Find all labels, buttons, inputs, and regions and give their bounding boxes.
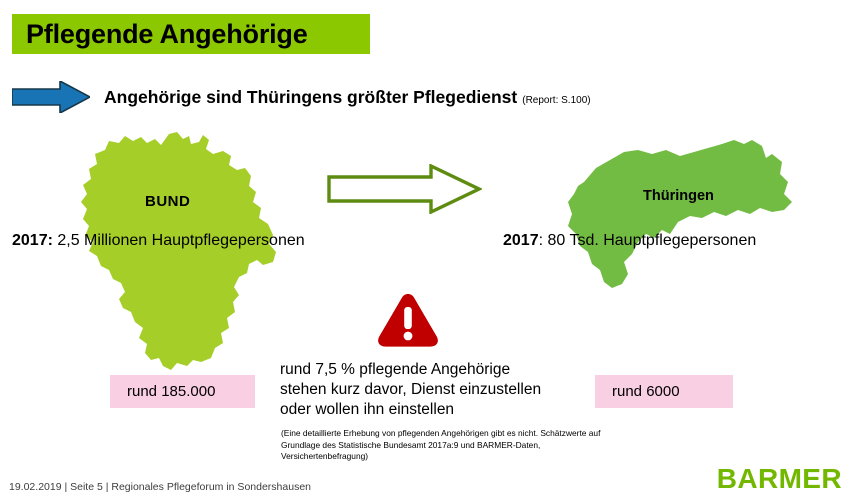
value-box-thueringen-label: rund 6000 [612, 383, 680, 400]
center-text-line-3: oder wollen ihn einstellen [280, 400, 570, 420]
center-description-text: rund 7,5 % pflegende Angehörige stehen k… [280, 360, 570, 420]
subtitle-reference: (Report: S.100) [522, 95, 590, 106]
value-box-thueringen: rund 6000 [595, 375, 733, 408]
stat-value-thueringen: : 80 Tsd. Hauptpflegepersonen [539, 232, 757, 249]
map-label-bund: BUND [145, 193, 190, 210]
germany-map-icon [73, 132, 283, 374]
blue-pointer-arrow-icon [12, 81, 90, 113]
thuringia-map-icon [566, 138, 811, 290]
center-text-line-1: rund 7,5 % pflegende Angehörige [280, 360, 570, 380]
stat-year-bund: 2017: [12, 232, 53, 249]
center-text-line-2: stehen kurz davor, Dienst einzustellen [280, 380, 570, 400]
green-transition-arrow-icon [327, 164, 482, 214]
footnote-line-1: (Eine detaillierte Erhebung von pflegend… [281, 428, 621, 440]
subtitle-text: Angehörige sind Thüringens größter Pfleg… [104, 87, 517, 108]
page-title: Pflegende Angehörige [12, 19, 308, 50]
value-box-bund-label: rund 185.000 [127, 383, 215, 400]
footnote-line-2: Grundlage des Statistische Bundesamt 201… [281, 440, 621, 452]
stat-line-thueringen: 2017: 80 Tsd. Hauptpflegepersonen [503, 232, 756, 250]
stat-value-bund: 2,5 Millionen Hauptpflegepersonen [53, 232, 305, 249]
map-label-thueringen: Thüringen [643, 188, 714, 204]
stat-line-bund: 2017: 2,5 Millionen Hauptpflegepersonen [12, 232, 305, 250]
subtitle-row: Angehörige sind Thüringens größter Pfleg… [104, 87, 591, 108]
value-box-bund: rund 185.000 [110, 375, 255, 408]
footnote-line-3: Versichertenbefragung) [281, 451, 621, 463]
slide-canvas: Pflegende Angehörige Angehörige sind Thü… [0, 0, 858, 502]
footer-meta-text: 19.02.2019 | Seite 5 | Regionales Pflege… [9, 481, 311, 493]
barmer-logo: BARMER [717, 463, 842, 495]
footnote-block: (Eine detaillierte Erhebung von pflegend… [281, 428, 621, 463]
warning-triangle-icon [377, 292, 439, 348]
slide-title-bar: Pflegende Angehörige [12, 14, 370, 54]
stat-year-thueringen: 2017 [503, 232, 539, 249]
